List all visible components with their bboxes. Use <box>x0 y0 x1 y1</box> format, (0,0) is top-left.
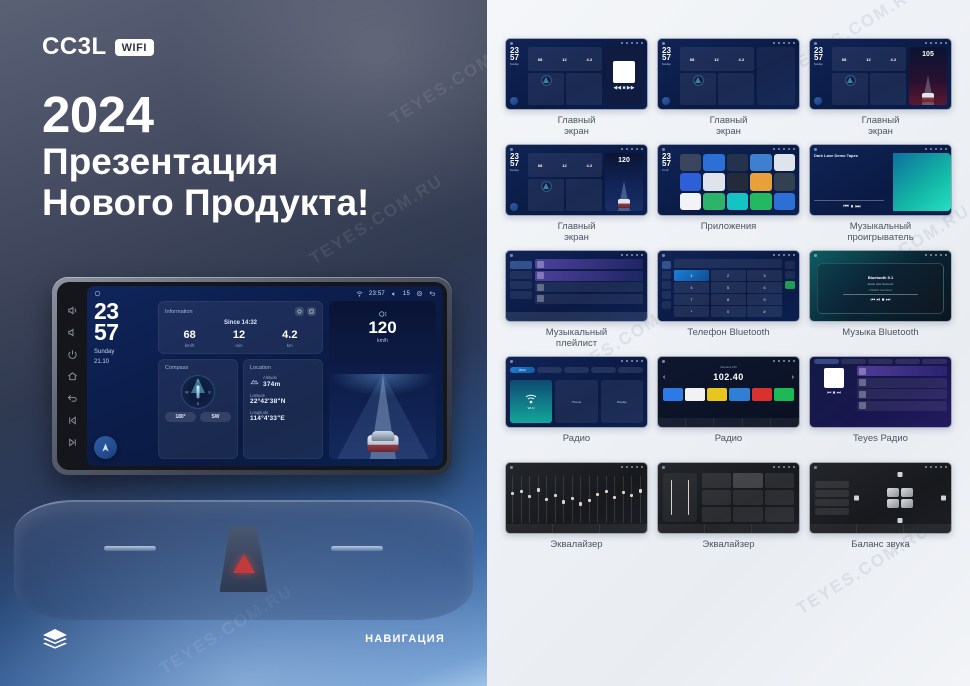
stat-unit: km/h <box>184 343 196 348</box>
radio-toolbar[interactable] <box>658 418 686 427</box>
stat-distance: 4.2 km <box>282 330 297 348</box>
balance-up-button[interactable] <box>898 472 903 477</box>
trip-stats: 68 km/h 12 min 4.2 km <box>165 330 316 348</box>
thumb-speed-value: 120 <box>605 157 643 164</box>
volume-down-icon[interactable] <box>67 327 78 338</box>
clock-weekday: Sunday <box>94 348 152 356</box>
gallery-caption: Главныйэкран <box>558 221 596 246</box>
information-title: Information <box>165 309 193 315</box>
gallery-caption: Музыкальныйпроигрыватель <box>847 221 913 246</box>
track-title: Dark Lane Demo Tapes <box>814 153 890 158</box>
compass-dial: N S W E <box>181 375 215 409</box>
speaker-grid <box>887 488 913 508</box>
altitude-label: Altitude <box>263 375 277 380</box>
thumbnail-home-media[interactable]: 2357Sunday 68124.2 ◀◀ ■ ▶▶ <box>505 38 648 110</box>
theme-tile[interactable]: Theme <box>555 380 597 423</box>
balance-pad[interactable] <box>854 473 946 522</box>
settings-tabs[interactable]: Wi-Fi <box>510 365 643 375</box>
balance-presets[interactable] <box>815 473 849 522</box>
thumbnail-home-drive[interactable]: 2357Sunday 68124.2 105 <box>809 38 952 110</box>
teyes-player-controls[interactable]: ⏮ ⏹ ⏭ <box>814 390 854 396</box>
dialpad-key[interactable]: 4 <box>674 282 709 293</box>
app-drawer-grid[interactable] <box>680 153 795 211</box>
radio-frequency: 102.40 <box>713 372 744 382</box>
gallery-grid: 2357Sunday 68124.2 ◀◀ ■ ▶▶ Главныйэкран … <box>505 38 952 564</box>
watermark: TEYES.COM.RU <box>386 31 487 129</box>
gallery-item[interactable]: 2357Sunday 68124.2 105 Главныйэкран <box>809 38 952 140</box>
thumb-weekday: Sunday <box>510 63 525 66</box>
navigation-launch-button[interactable] <box>94 436 117 459</box>
thumbnail-equalizer-bands[interactable] <box>505 462 648 534</box>
eq-tab[interactable] <box>752 524 799 533</box>
thumb-clock-mm: 57 <box>510 54 525 61</box>
physical-button-strip[interactable] <box>57 282 87 470</box>
dialpad-key[interactable]: 8 <box>711 294 746 305</box>
settings-tab[interactable]: Wi-Fi <box>510 367 535 373</box>
app-shortcut-grid[interactable] <box>760 50 792 56</box>
compass-north-label: N <box>197 378 200 383</box>
gain-sliders[interactable] <box>663 473 697 522</box>
stat-value: 4.2 <box>282 330 297 341</box>
gallery-item[interactable]: 235721.10 Приложения <box>657 144 800 246</box>
device-bezel-inner: 23:57 15 23 57 Sunday 21.10 <box>57 282 447 470</box>
eq-tab[interactable] <box>810 524 857 533</box>
tile-label: Display <box>617 400 627 404</box>
radio-band-label: Receive FM <box>663 365 794 369</box>
clock-minutes: 57 <box>94 322 152 343</box>
power-icon[interactable] <box>67 349 78 360</box>
car-illustration <box>367 426 398 452</box>
now-playing-bar[interactable] <box>506 312 647 321</box>
brand-logo: CC3L WIFI <box>42 33 154 61</box>
playlist-track-list[interactable] <box>535 259 643 317</box>
phone-nav-sidebar[interactable] <box>662 259 671 317</box>
headline-line2: Нового Продукта! <box>42 182 369 223</box>
dialpad-key[interactable]: 3 <box>747 270 782 281</box>
information-card[interactable]: Information Since 14:32 68 <box>158 301 323 354</box>
wifi-tile[interactable]: Wi-Fi <box>510 380 552 423</box>
preset-station[interactable] <box>663 388 683 401</box>
location-card[interactable]: Location Altitude 374m Latitude <box>243 359 323 459</box>
dialpad-key[interactable]: 9 <box>747 294 782 305</box>
layers-icon <box>42 628 68 650</box>
gallery-caption: Телефон Bluetooth <box>687 327 769 352</box>
gallery-caption: Приложения <box>701 221 757 246</box>
dialpad[interactable]: 1 2 3 4 5 6 7 8 9 * 0 # <box>674 270 782 317</box>
thumbnail-equalizer-presets[interactable] <box>657 462 800 534</box>
eq-tab[interactable] <box>705 524 752 533</box>
eq-tab[interactable] <box>506 524 553 533</box>
settings-tiles[interactable]: Wi-Fi Theme Display <box>510 378 643 423</box>
screen-content: 23 57 Sunday 21.10 Information <box>87 301 443 466</box>
stat-value: 12 <box>233 330 245 341</box>
wifi-icon <box>356 291 363 297</box>
status-bar: 23:57 15 <box>87 286 443 301</box>
dialpad-key[interactable]: * <box>674 306 709 317</box>
contacts-icon[interactable] <box>785 271 795 279</box>
dialpad-key[interactable]: 0 <box>711 306 746 317</box>
preset-station[interactable] <box>685 388 705 401</box>
thumbnail-radio[interactable]: Receive FM ‹ 102.40 › <box>657 356 800 428</box>
thumbnail-teyes-radio[interactable]: ⏮ ⏹ ⏭ <box>809 356 952 428</box>
nav-circle-icon <box>510 97 518 105</box>
headline: 2024 Презентация Нового Продукта! <box>42 88 369 224</box>
expand-icon[interactable] <box>307 307 316 316</box>
compass-direction: SW <box>200 412 231 422</box>
thumbnail-music-player[interactable]: Dark Lane Demo Tapes ⏮ ⏸ ⏭ <box>809 144 952 216</box>
gallery-item[interactable]: Баланс звука <box>809 462 952 564</box>
head-unit-device: 23:57 15 23 57 Sunday 21.10 <box>52 277 452 475</box>
tile-label: Wi-Fi <box>528 406 535 410</box>
gallery-caption: Эквалайзер <box>702 539 754 564</box>
bt-version-label: Bluetooth 5.1 <box>868 275 893 280</box>
bt-track-title: Feels Like Summer <box>868 282 894 286</box>
speaker-icon <box>901 488 913 497</box>
stat-unit: km <box>282 343 297 348</box>
settings-tab[interactable] <box>564 367 589 373</box>
head-unit-screen[interactable]: 23:57 15 23 57 Sunday 21.10 <box>87 286 443 466</box>
vent-slider-left[interactable] <box>104 546 156 551</box>
wifi-badge: WIFI <box>115 39 154 56</box>
eq-preset-buttons[interactable] <box>702 473 794 522</box>
gallery-caption: Музыка Bluetooth <box>842 327 918 352</box>
speed-unit: km/h <box>329 338 436 344</box>
compass-needle <box>197 386 200 399</box>
player-controls[interactable]: ⏮ ⏸ ⏭ <box>814 204 890 211</box>
hero-panel: TEYES.COM.RU TEYES.COM.RU TEYES.COM.RU C… <box>0 0 487 686</box>
mountain-icon <box>250 377 259 386</box>
hero-footer: НАВИГАЦИЯ <box>42 628 445 650</box>
gallery-caption: Teyes Радио <box>853 433 908 458</box>
gallery-item[interactable]: Эквалайзер <box>657 462 800 564</box>
gallery-item[interactable]: 2357Sunday 68124.2 ◀◀ ■ ▶▶ Главныйэкран <box>505 38 648 140</box>
preset-station[interactable] <box>752 388 772 401</box>
compass-west-label: W <box>185 390 189 395</box>
gallery-item[interactable]: Bluetooth 5.1 Feels Like Summer Childish… <box>809 250 952 352</box>
next-track-icon[interactable] <box>67 437 78 448</box>
tile-label: Theme <box>572 400 581 404</box>
eq-tab[interactable] <box>904 524 951 533</box>
next-station-button[interactable]: › <box>792 374 794 381</box>
volume-icon[interactable] <box>391 291 397 297</box>
gallery-caption: Главныйэкран <box>710 115 748 140</box>
gallery-caption: Радио <box>563 433 590 458</box>
gallery-item[interactable]: Эквалайзер <box>505 462 648 564</box>
gallery-item[interactable]: Receive FM ‹ 102.40 › <box>657 356 800 458</box>
balance-right-button[interactable] <box>941 495 946 500</box>
media-controls[interactable]: ◀◀ ■ ▶▶ <box>613 85 634 91</box>
gallery-item[interactable]: 2357Sunday 68124.2 120 Главныйэкран <box>505 144 648 246</box>
thumbnail-playlist[interactable] <box>505 250 648 322</box>
speed-readout: 120 km/h <box>329 311 436 344</box>
thumbnail-bt-music[interactable]: Bluetooth 5.1 Feels Like Summer Childish… <box>809 250 952 322</box>
dialpad-key[interactable]: 2 <box>711 270 746 281</box>
dialpad-key[interactable]: # <box>747 306 782 317</box>
compass-south-label: S <box>197 401 200 406</box>
thumbnail-bt-phone[interactable]: 1 2 3 4 5 6 7 8 9 * 0 # <box>657 250 800 322</box>
call-icon[interactable] <box>785 281 795 289</box>
gallery-caption: Главныйэкран <box>558 115 596 140</box>
clock-date: 21.10 <box>94 358 152 366</box>
playlist-categories[interactable] <box>510 259 532 317</box>
navigation-label: НАВИГАЦИЯ <box>365 633 445 645</box>
volume-up-icon[interactable] <box>67 305 78 316</box>
display-tile[interactable]: Display <box>601 380 643 423</box>
gallery-item[interactable]: 1 2 3 4 5 6 7 8 9 * 0 # <box>657 250 800 352</box>
navigation-arrow-icon <box>100 442 111 453</box>
eq-tab[interactable] <box>553 524 600 533</box>
prev-track-icon[interactable] <box>67 415 78 426</box>
status-time: 23:57 <box>369 291 385 297</box>
status-volume: 15 <box>403 291 410 297</box>
call-actions[interactable] <box>785 259 795 317</box>
location-title: Location <box>250 365 271 371</box>
back-icon[interactable] <box>429 290 436 297</box>
thumbnail-sound-balance[interactable] <box>809 462 952 534</box>
gallery-item[interactable]: Wi-Fi Wi-Fi Theme Display <box>505 356 648 458</box>
hazard-light-button[interactable] <box>220 526 268 592</box>
teyes-station-list[interactable] <box>857 366 947 411</box>
headlight-icon <box>378 311 387 317</box>
bt-now-playing-card: Bluetooth 5.1 Feels Like Summer Childish… <box>817 263 944 314</box>
speaker-icon <box>887 488 899 497</box>
gallery-caption: Радио <box>715 433 742 458</box>
back-icon[interactable] <box>67 393 78 404</box>
gallery-caption: Баланс звука <box>851 539 910 564</box>
vent-slider-right[interactable] <box>331 546 383 551</box>
teyes-radio-tabs[interactable] <box>810 357 951 366</box>
altitude-value: 374m <box>263 381 280 388</box>
longitude-value: 114°4'33"E <box>250 415 316 422</box>
settings-tab[interactable] <box>591 367 616 373</box>
stat-value: 68 <box>184 330 196 341</box>
thumbnail-apps[interactable]: 235721.10 <box>657 144 800 216</box>
album-art <box>613 61 635 83</box>
speaker-icon <box>887 499 899 508</box>
refresh-icon[interactable] <box>295 307 304 316</box>
bt-artist: Childish Gambino <box>869 288 893 292</box>
clock-widget[interactable]: 23 57 Sunday 21.10 <box>94 301 152 459</box>
widget-column: Information Since 14:32 68 <box>158 301 323 459</box>
brand-name: CC3L <box>42 33 107 61</box>
gallery-item[interactable]: ⏮ ⏹ ⏭ Teyes Радио <box>809 356 952 458</box>
speed-value: 120 <box>329 319 436 336</box>
headline-line1: Презентация <box>42 141 369 182</box>
compass-card[interactable]: Compass N S W E <box>158 359 238 459</box>
dialpad-key[interactable]: 1 <box>674 270 709 281</box>
dialed-number-field[interactable] <box>674 259 782 268</box>
dialpad-key[interactable]: 7 <box>674 294 709 305</box>
compass-title: Compass <box>165 365 188 371</box>
thumbnail-settings[interactable]: Wi-Fi Wi-Fi Theme Display <box>505 356 648 428</box>
thumb-speed-value: 105 <box>909 51 947 58</box>
eq-tab[interactable] <box>857 524 904 533</box>
stat-unit: min <box>233 343 245 348</box>
compass-degrees: 180° <box>165 412 196 422</box>
prev-station-button[interactable]: ‹ <box>663 374 665 381</box>
home-indicator-icon[interactable] <box>94 290 101 297</box>
stat-avg-speed: 68 km/h <box>184 330 196 348</box>
bt-player-controls[interactable]: ⏮ ⏯ ⏹ ⏭ <box>871 297 891 303</box>
dashboard-vents <box>14 500 473 620</box>
gallery-item[interactable]: 2357Sunday 68124.2 Главныйэкран <box>657 38 800 140</box>
star-icon[interactable] <box>785 261 795 269</box>
balance-left-button[interactable] <box>854 495 859 500</box>
gallery-item[interactable]: Dark Lane Demo Tapes ⏮ ⏸ ⏭ Музыкальныйпр… <box>809 144 952 246</box>
speaker-icon <box>901 499 913 508</box>
thumbnail-home-drive2[interactable]: 2357Sunday 68124.2 120 <box>505 144 648 216</box>
dialpad-key[interactable]: 5 <box>711 282 746 293</box>
latitude-value: 22°42'38"N <box>250 398 316 405</box>
gallery-caption: Музыкальныйплейлист <box>546 327 607 352</box>
preset-station[interactable] <box>729 388 749 401</box>
device-bezel: 23:57 15 23 57 Sunday 21.10 <box>52 277 452 475</box>
stat-duration: 12 min <box>233 330 245 348</box>
compass-east-label: E <box>208 390 211 395</box>
eq-tab[interactable] <box>600 524 647 533</box>
wifi-icon <box>525 394 537 404</box>
preset-station[interactable] <box>707 388 727 401</box>
progress-bar[interactable] <box>843 294 918 295</box>
eq-tab[interactable] <box>658 524 705 533</box>
drive-view-widget[interactable]: 120 km/h <box>329 301 436 459</box>
thumbnail-home-apps[interactable]: 2357Sunday 68124.2 <box>657 38 800 110</box>
radio-presets[interactable] <box>663 388 794 401</box>
hazard-triangle-icon <box>233 554 255 573</box>
settings-tab[interactable] <box>537 367 562 373</box>
gallery-caption: Эквалайзер <box>550 539 602 564</box>
gallery-item[interactable]: Музыкальныйплейлист <box>505 250 648 352</box>
trip-since-label: Since 14:32 <box>165 320 316 326</box>
settings-tab[interactable] <box>618 367 643 373</box>
gear-icon[interactable] <box>416 290 423 297</box>
dialpad-key[interactable]: 6 <box>747 282 782 293</box>
preset-station[interactable] <box>774 388 794 401</box>
home-icon[interactable] <box>67 371 78 382</box>
screenshot-gallery-panel: TEYES.COM.RU TEYES.COM.RU TEYES.COM.RU T… <box>487 0 970 686</box>
headline-year: 2024 <box>42 88 369 141</box>
balance-down-button[interactable] <box>898 518 903 523</box>
gallery-caption: Главныйэкран <box>862 115 900 140</box>
